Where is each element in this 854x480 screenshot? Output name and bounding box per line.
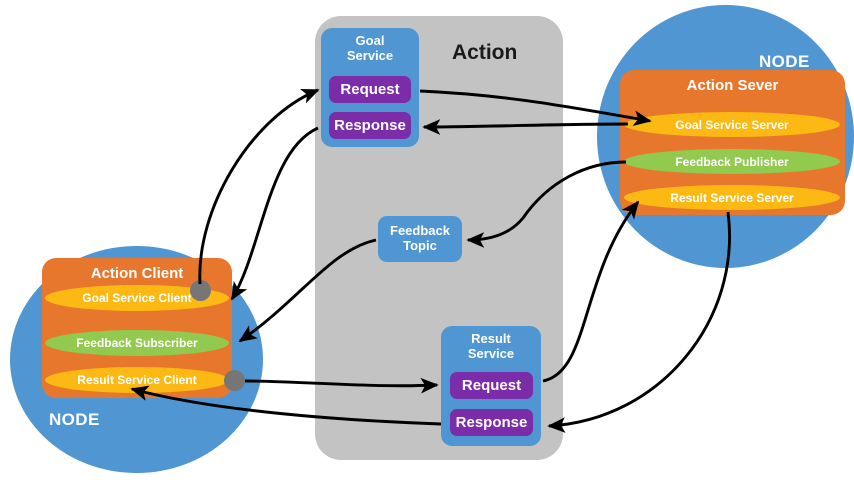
feedback-subscriber-pill[interactable]: Feedback Subscriber — [45, 330, 229, 356]
goal-service-title-line1: Goal — [321, 34, 419, 49]
result-service-response[interactable]: Response — [450, 409, 533, 436]
goal-service-request[interactable]: Request — [329, 76, 411, 103]
action-panel-title: Action — [452, 41, 517, 65]
goal-service-request-label: Request — [340, 81, 399, 98]
result-service-box: Result Service Request Response — [441, 326, 541, 446]
arrow-goal-response-to-client — [232, 128, 318, 299]
result-service-title: Result Service — [441, 332, 541, 361]
goal-service-title-line2: Service — [321, 49, 419, 64]
action-server-title: Action Sever — [620, 77, 845, 94]
goal-service-server-pill[interactable]: Goal Service Server — [624, 112, 840, 137]
goal-service-server-label: Goal Service Server — [675, 119, 788, 131]
server-node-label: NODE — [759, 52, 810, 72]
feedback-topic-line1: Feedback — [390, 224, 450, 239]
feedback-publisher-pill[interactable]: Feedback Publisher — [624, 149, 840, 174]
result-service-response-label: Response — [456, 414, 528, 431]
client-node-label: NODE — [49, 410, 100, 430]
result-service-title-line2: Service — [441, 347, 541, 362]
goal-service-title: Goal Service — [321, 34, 419, 63]
action-client-goal-connector-dot[interactable] — [190, 280, 211, 301]
goal-service-client-label: Goal Service Client — [82, 292, 191, 304]
result-service-title-line1: Result — [441, 332, 541, 347]
diagram-canvas: Action NODE Action Client Goal Service C… — [0, 0, 854, 480]
goal-service-response[interactable]: Response — [329, 112, 411, 139]
goal-service-box: Goal Service Request Response — [321, 28, 419, 147]
result-service-server-pill[interactable]: Result Service Server — [624, 185, 840, 210]
result-service-client-connector-dot[interactable] — [224, 370, 245, 391]
arrow-client-to-goal-request — [200, 90, 318, 284]
feedback-topic-line2: Topic — [390, 239, 450, 254]
feedback-publisher-label: Feedback Publisher — [675, 156, 788, 168]
result-service-request[interactable]: Request — [450, 372, 533, 399]
result-service-server-label: Result Service Server — [670, 192, 793, 204]
action-client-title: Action Client — [42, 265, 232, 282]
result-service-client-label: Result Service Client — [77, 374, 196, 386]
goal-service-response-label: Response — [334, 117, 406, 134]
result-service-client-pill[interactable]: Result Service Client — [45, 367, 229, 393]
feedback-subscriber-label: Feedback Subscriber — [76, 337, 197, 349]
feedback-topic-box[interactable]: Feedback Topic — [378, 216, 462, 262]
result-service-request-label: Request — [462, 377, 521, 394]
